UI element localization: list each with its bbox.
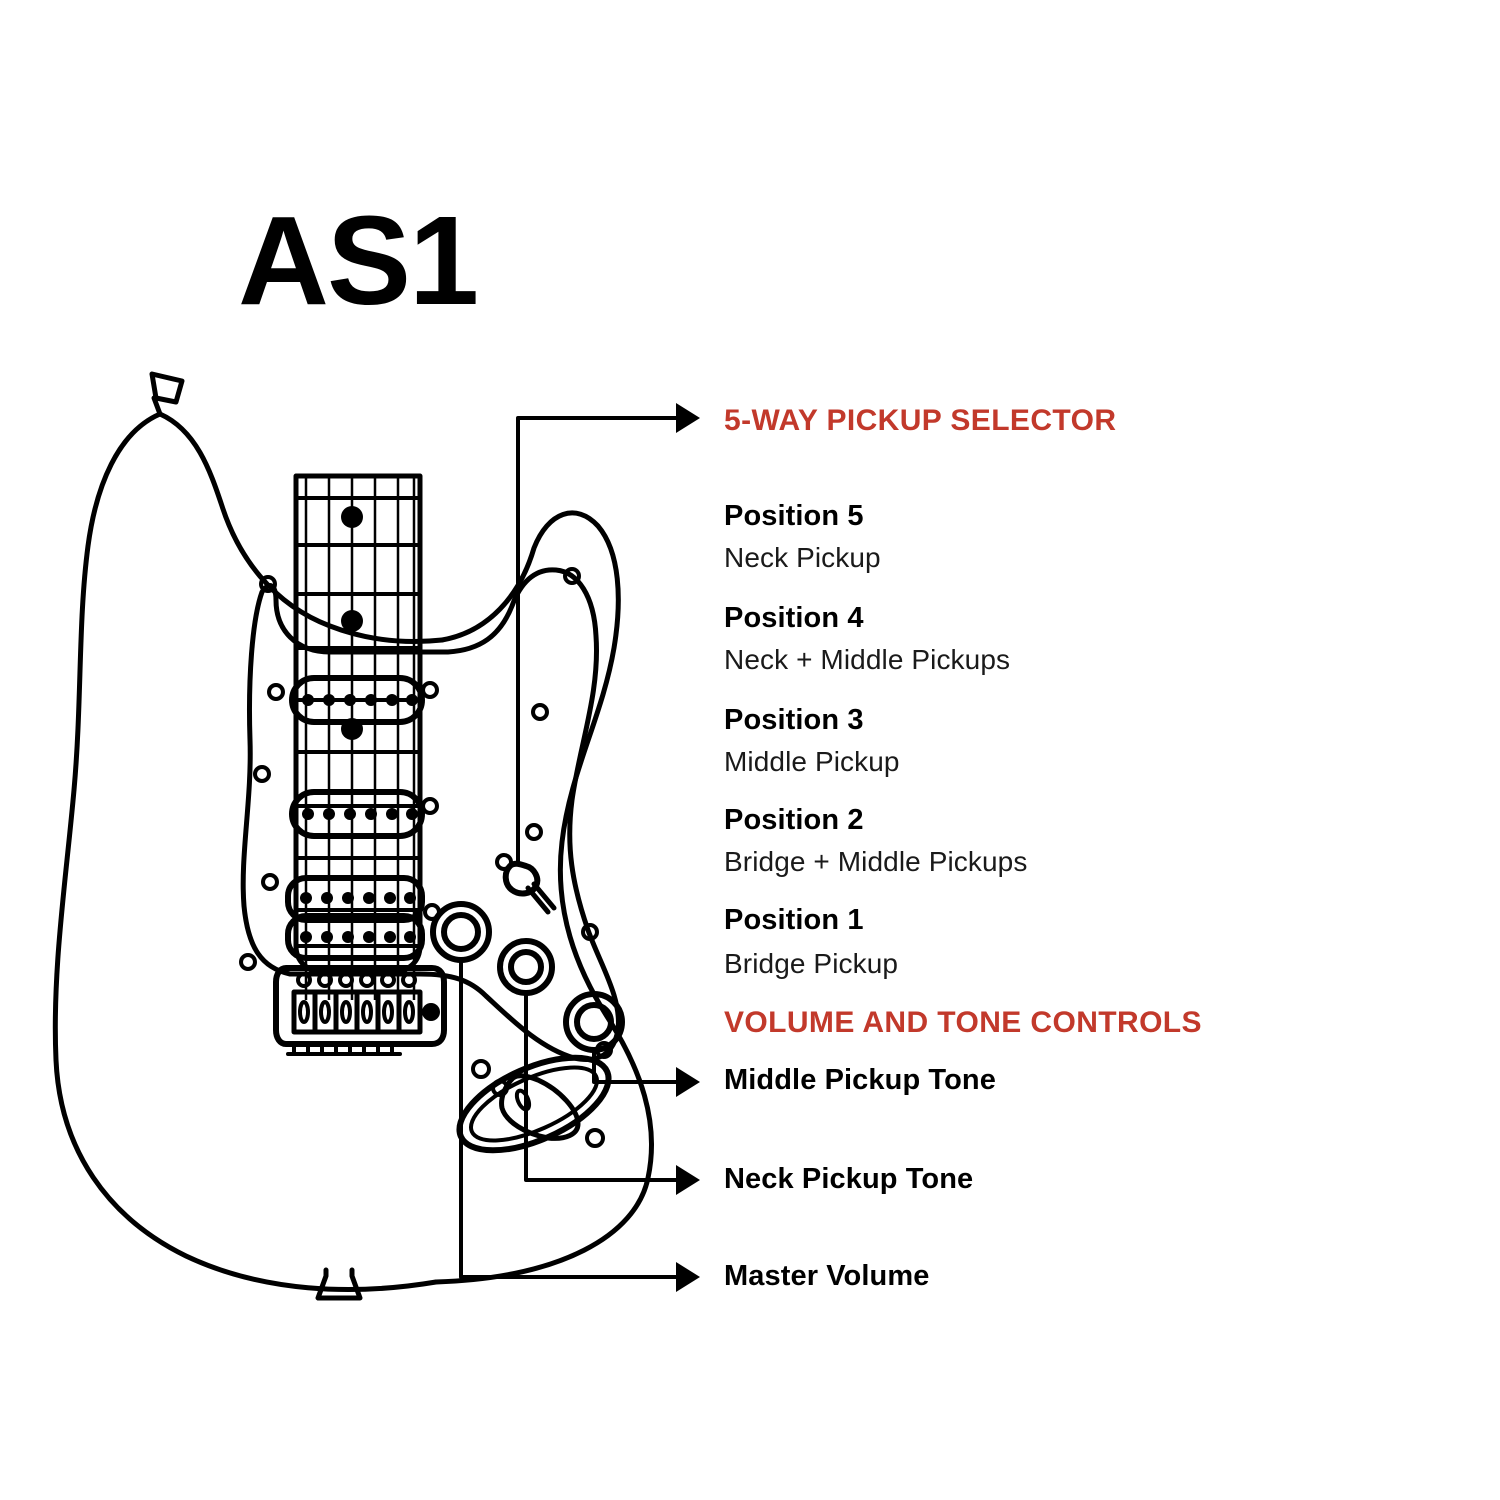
control-label-master-volume: Master Volume	[724, 1262, 929, 1291]
position-1-title: Position 1	[724, 906, 864, 935]
strap-button-bottom-icon	[318, 1270, 360, 1298]
upper-horn-curve	[160, 414, 442, 641]
five-way-selector-switch[interactable]	[506, 864, 554, 912]
position-3-desc: Middle Pickup	[724, 748, 900, 776]
leader-selector	[518, 418, 680, 866]
control-label-neck-pickup-tone: Neck Pickup Tone	[724, 1165, 973, 1194]
position-3-title: Position 3	[724, 706, 864, 735]
middle-pickup	[292, 792, 422, 836]
position-5-desc: Neck Pickup	[724, 544, 881, 572]
position-1-desc: Bridge Pickup	[724, 950, 898, 978]
arrowhead-selector	[676, 403, 700, 433]
position-5-title: Position 5	[724, 502, 864, 531]
position-2-desc: Bridge + Middle Pickups	[724, 848, 1027, 876]
middle-tone-knob[interactable]	[566, 994, 622, 1050]
controls-heading: VOLUME AND TONE CONTROLS	[724, 1008, 1202, 1038]
tremolo-bridge	[276, 968, 444, 1054]
position-4-title: Position 4	[724, 604, 864, 633]
position-2-title: Position 2	[724, 806, 864, 835]
arrowhead-master-volume	[676, 1262, 700, 1292]
position-4-desc: Neck + Middle Pickups	[724, 646, 1010, 674]
leader-arrowheads	[676, 403, 700, 1292]
guitar-control-diagram-page: AS1	[0, 0, 1500, 1500]
control-label-middle-pickup-tone: Middle Pickup Tone	[724, 1066, 996, 1095]
master-volume-knob[interactable]	[433, 904, 489, 960]
neck-tone-knob[interactable]	[500, 941, 552, 993]
arrowhead-neck-tone	[676, 1165, 700, 1195]
selector-heading: 5-WAY PICKUP SELECTOR	[724, 406, 1116, 436]
arrowhead-middle-tone	[676, 1067, 700, 1097]
